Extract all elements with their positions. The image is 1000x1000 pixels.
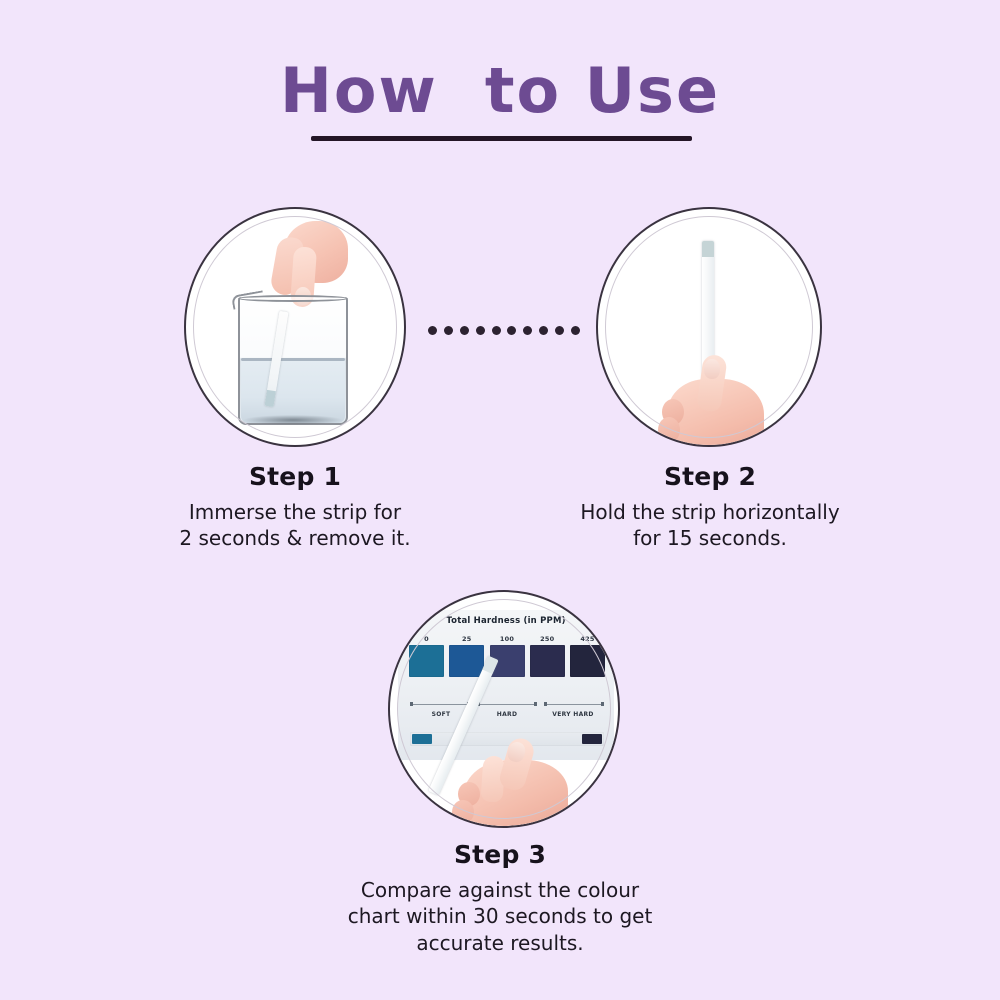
chart-scale-row bbox=[410, 702, 604, 706]
hand-knuckle bbox=[658, 417, 680, 443]
beaker-water bbox=[241, 359, 345, 423]
step2-illustration-stage bbox=[598, 209, 820, 445]
fingernail bbox=[704, 359, 720, 379]
step3-illustration-stage: Total Hardness (in PPM) 0 25 100 250 bbox=[390, 592, 618, 826]
chart-hardness-labels: SOFT HARD VERY HARD bbox=[410, 711, 604, 718]
chart-scale-segment bbox=[544, 702, 604, 706]
chart-swatch-value: 425 bbox=[570, 635, 605, 643]
step2-illustration-circle bbox=[596, 207, 822, 447]
beaker-base-shadow bbox=[244, 415, 342, 425]
chart-swatch-value: 0 bbox=[409, 635, 444, 643]
gradient-bar-left-chip bbox=[412, 734, 432, 744]
chart-swatch-value: 100 bbox=[490, 635, 525, 643]
step2-caption: Step 2 Hold the strip horizontally for 1… bbox=[535, 462, 885, 552]
chart-swatch-chip bbox=[530, 645, 565, 677]
chart-swatch-cell: 425 bbox=[570, 635, 605, 677]
connector-dot bbox=[571, 326, 580, 335]
hand-knuckle bbox=[452, 800, 474, 824]
chart-swatch-chip bbox=[570, 645, 605, 677]
chart-swatch-chip bbox=[449, 645, 484, 677]
chart-swatch-cell: 100 bbox=[490, 635, 525, 677]
connector-dot bbox=[523, 326, 532, 335]
connector-dot bbox=[476, 326, 485, 335]
hand-icon bbox=[656, 355, 776, 445]
step3-heading: Step 3 bbox=[290, 840, 710, 869]
connector-dot bbox=[444, 326, 453, 335]
page-title-block: How to Use bbox=[0, 58, 1000, 123]
connector-dot bbox=[492, 326, 501, 335]
chart-title: Total Hardness (in PPM) bbox=[398, 616, 614, 626]
dotted-connector bbox=[428, 325, 580, 335]
chart-swatch-chip bbox=[409, 645, 444, 677]
step1-heading: Step 1 bbox=[125, 462, 465, 491]
hardness-label-very-hard: VERY HARD bbox=[542, 711, 604, 718]
test-strip-pad bbox=[702, 241, 714, 257]
step2-description: Hold the strip horizontally for 15 secon… bbox=[535, 499, 885, 552]
gradient-bar-right-chip bbox=[582, 734, 602, 744]
connector-dot bbox=[460, 326, 469, 335]
step3-caption: Step 3 Compare against the colour chart … bbox=[290, 840, 710, 956]
chart-swatch-value: 25 bbox=[449, 635, 484, 643]
hand-icon bbox=[448, 742, 578, 826]
step1-description: Immerse the strip for 2 seconds & remove… bbox=[125, 499, 465, 552]
beaker-rim bbox=[238, 295, 348, 302]
step3-description: Compare against the colour chart within … bbox=[290, 877, 710, 956]
chart-swatch-value: 250 bbox=[530, 635, 565, 643]
step2-heading: Step 2 bbox=[535, 462, 885, 491]
chart-swatch-row: 0 25 100 250 425 bbox=[409, 635, 605, 677]
step1-illustration-stage bbox=[186, 209, 404, 445]
hardness-label-hard: HARD bbox=[476, 711, 538, 718]
chart-swatch-cell: 25 bbox=[449, 635, 484, 677]
chart-scale-segment bbox=[477, 702, 537, 706]
connector-dot bbox=[555, 326, 564, 335]
page-title: How to Use bbox=[280, 58, 720, 123]
step3-illustration-circle: Total Hardness (in PPM) 0 25 100 250 bbox=[388, 590, 620, 828]
step1-caption: Step 1 Immerse the strip for 2 seconds &… bbox=[125, 462, 465, 552]
beaker-water-surface bbox=[241, 358, 345, 361]
chart-swatch-cell: 0 bbox=[409, 635, 444, 677]
connector-dot bbox=[428, 326, 437, 335]
connector-dot bbox=[539, 326, 548, 335]
connector-dot bbox=[507, 326, 516, 335]
hardness-colour-chart: Total Hardness (in PPM) 0 25 100 250 bbox=[398, 610, 614, 760]
title-underline-rule bbox=[311, 136, 692, 141]
chart-swatch-cell: 250 bbox=[530, 635, 565, 677]
chart-scale-segment bbox=[410, 702, 470, 706]
step1-illustration-circle bbox=[184, 207, 406, 447]
